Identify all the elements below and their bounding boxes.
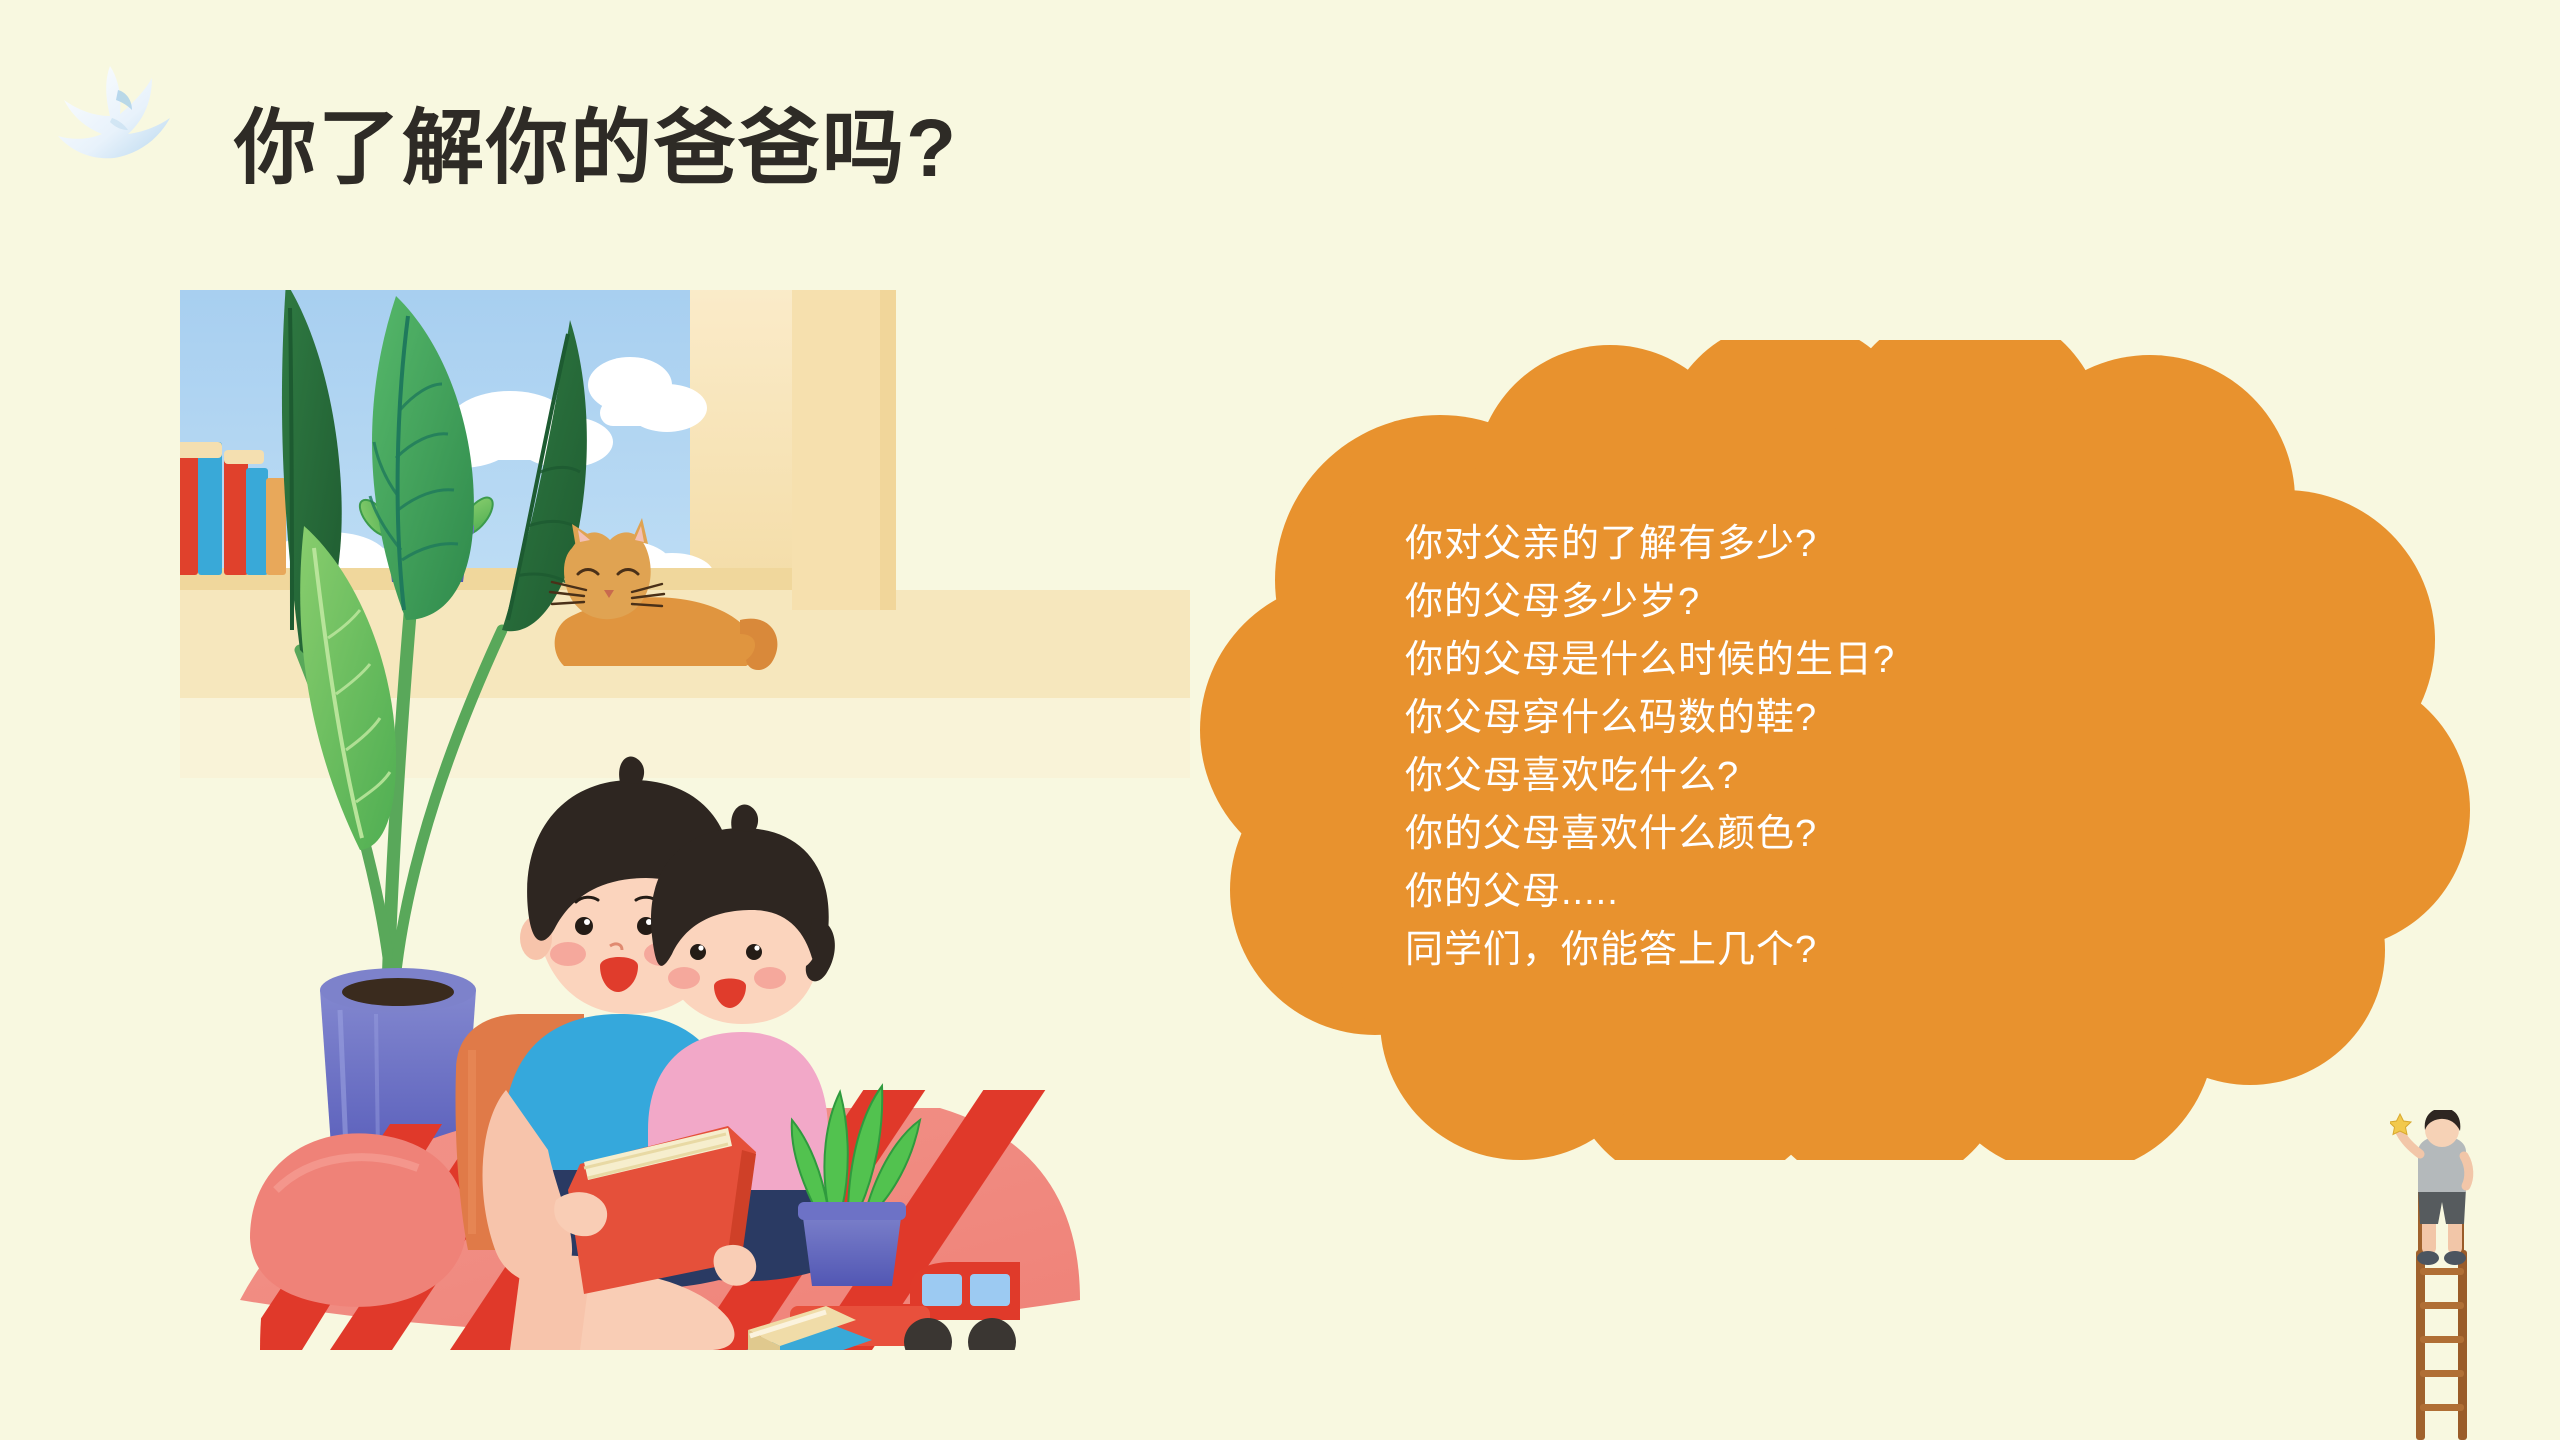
- bubble-line-1: 你对父亲的了解有多少?: [1405, 515, 2225, 573]
- star-icon: [2390, 1114, 2411, 1135]
- bubble-line-2: 你的父母多少岁?: [1405, 573, 2225, 631]
- bubble-line-3: 你的父母是什么时候的生日?: [1405, 631, 2225, 689]
- children-reading-illustration: [180, 290, 1300, 1350]
- dove-icon: [48, 48, 188, 178]
- bubble-line-6: 你的父母喜欢什么颜色?: [1405, 805, 2225, 863]
- cloud-speech-bubble: 你对父亲的了解有多少? 你的父母多少岁? 你的父母是什么时候的生日? 你父母穿什…: [1140, 340, 2470, 1160]
- boy-figure: [2400, 1110, 2469, 1265]
- bubble-line-5: 你父母喜欢吃什么?: [1405, 747, 2225, 805]
- bubble-text-block: 你对父亲的了解有多少? 你的父母多少岁? 你的父母是什么时候的生日? 你父母穿什…: [1405, 515, 2225, 979]
- bubble-line-7: 你的父母.....: [1405, 863, 2225, 921]
- slide-root: 你了解你的爸爸吗?: [0, 0, 2560, 1440]
- bubble-line-8: 同学们，你能答上几个?: [1405, 921, 2225, 979]
- bubble-line-4: 你父母穿什么码数的鞋?: [1405, 689, 2225, 747]
- boy-on-ladder-illustration: [2390, 1110, 2540, 1440]
- page-title: 你了解你的爸爸吗?: [234, 108, 958, 190]
- children-reading: [483, 756, 835, 1350]
